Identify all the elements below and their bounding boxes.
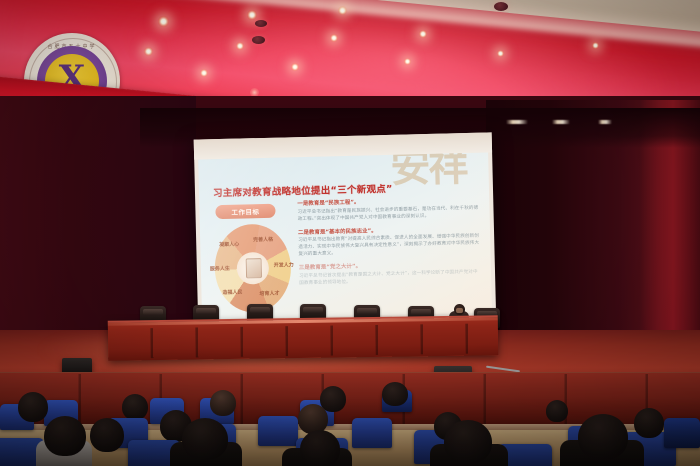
audience-seat xyxy=(258,416,298,446)
audience-person xyxy=(122,394,148,420)
auditorium-photo: 合肥市五十中学 HEFEI NO.50 MIDDLE SCHOOL X 学习贯彻… xyxy=(0,0,700,466)
slide-paragraph-text: 习近平总书记指出“教育是民族振兴、社会进步的重要基石，是功在当代、利在千秋的德政… xyxy=(297,204,479,222)
audience-person xyxy=(444,420,492,464)
audience-person xyxy=(210,390,236,416)
ceiling-spotlight xyxy=(592,42,599,49)
audience-person xyxy=(90,418,124,452)
ceiling-spotlight xyxy=(291,63,299,71)
slide-paragraph: 三是教育是“党之大计”。 习近平总书记首次提出“教育是国之大计、党之大计”，这一… xyxy=(299,259,482,287)
table-front-panels xyxy=(108,323,498,358)
slide-paragraph: 一是教育是“民族工程”。 习近平总书记指出“教育是民族振兴、社会进步的重要基石，… xyxy=(297,195,480,223)
curtain-edge-light xyxy=(552,120,570,124)
conference-table xyxy=(108,315,499,360)
slide-goal-pill: 工作目标 xyxy=(215,204,275,219)
slide-paragraph-text: 习近平总书记首次提出“教育是国之大计、党之大计”，这一科学论断了中国共产党对中国… xyxy=(299,268,481,286)
wheel-label-2: 开发人力 xyxy=(273,261,295,269)
wheel-label-5: 服务人生 xyxy=(209,265,231,273)
ceiling-spotlight xyxy=(338,6,347,15)
wheel-label-0: 凝聚人心 xyxy=(216,241,242,249)
audience-person xyxy=(44,416,86,456)
ceiling-light-fixture xyxy=(255,20,267,27)
ceiling-spotlight xyxy=(330,34,338,42)
slide-paragraph: 二是教育是“基本的民族志业”。 习近平总书记指出教育“对提高人民综合素质、促进人… xyxy=(298,223,481,258)
slide-book-icon xyxy=(246,258,262,278)
audience-person xyxy=(578,414,628,460)
audience-person xyxy=(182,418,228,460)
wheel-label-4: 造福人民 xyxy=(219,288,245,296)
audience-seat xyxy=(352,418,392,448)
audience-person xyxy=(546,400,568,422)
ceiling-spotlight xyxy=(419,30,427,38)
ceiling-spotlight xyxy=(404,58,411,65)
ceiling-light-fixture xyxy=(252,36,265,44)
audience-person xyxy=(382,382,408,406)
ceiling-spotlight xyxy=(200,69,208,77)
wheel-label-1: 完善人格 xyxy=(248,236,278,244)
wheel-label-3: 培育人才 xyxy=(255,290,283,298)
ceiling-spotlight xyxy=(158,16,169,27)
presentation-slide: 安祥 习主席对教育战略地位提出“三个新观点” 工作目标 凝聚人心 完善人格 开发… xyxy=(198,152,492,319)
projection-screen: 安祥 习主席对教育战略地位提出“三个新观点” 工作目标 凝聚人心 完善人格 开发… xyxy=(194,132,497,331)
audience-person xyxy=(18,392,48,422)
audience-person xyxy=(634,408,664,438)
slide-body-text: 一是教育是“民族工程”。 习近平总书记指出“教育是民族振兴、社会进步的重要基石，… xyxy=(297,195,482,311)
audience-person xyxy=(300,430,340,466)
ceiling-spotlight xyxy=(497,50,504,57)
ceiling-spotlight xyxy=(144,47,153,56)
ceiling-spotlight xyxy=(236,42,244,50)
audience-seat xyxy=(664,418,700,448)
curtain-edge-light xyxy=(598,120,612,124)
ceiling-light-fixture xyxy=(494,2,508,11)
ceiling-spotlight xyxy=(247,10,257,20)
curtain-edge-light xyxy=(506,120,528,124)
slide-paragraph-text: 习近平总书记指出教育“对提高人民综合素质、促进人的全面发展、增强中华民族创新创造… xyxy=(298,233,480,258)
presenter-face xyxy=(456,308,463,313)
